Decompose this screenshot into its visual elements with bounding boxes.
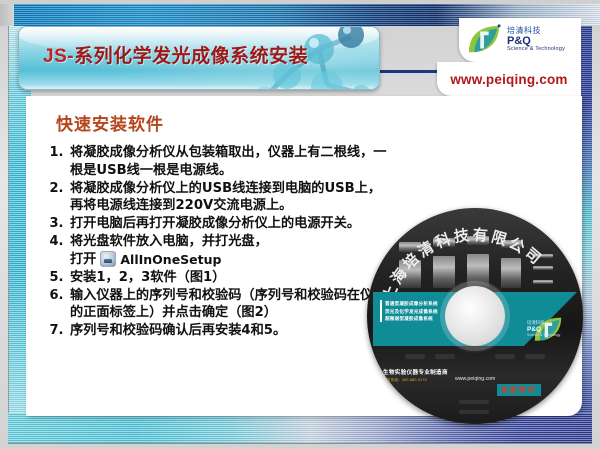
list-item: 打开电脑后再打开凝胶成像分析仪上的电源开关。 — [68, 215, 390, 233]
company-logo: 培清科技 P&Q Science & Technology — [459, 18, 581, 62]
website-url[interactable]: www.peiqing.com — [450, 72, 567, 87]
installer-icon — [100, 251, 116, 267]
leaf-icon — [465, 24, 503, 56]
cd-logo-tagline: Science & Technology — [527, 333, 579, 337]
cd-disc: 上海培清科技有限公司 普通型凝胶成像分析系统 荧光及化学发光成像系统 超微弱型凝… — [367, 208, 583, 424]
step4-setup-line: 打开 AllInOneSetup — [70, 251, 390, 269]
logo-tagline: Science & Technology — [507, 47, 565, 53]
title-main: 系列化学发光成像系统安装 — [74, 46, 308, 67]
cd-footer-hotline: 服务热线：400-880-9173 — [383, 378, 448, 383]
section-heading: 快速安装软件 — [56, 110, 164, 135]
page-title: JS-系列化学发光成像系统安装 — [43, 41, 308, 68]
software-cd-image: 上海培清科技有限公司 普通型凝胶成像分析系统 荧光及化学发光成像系统 超微弱型凝… — [367, 208, 583, 424]
list-item: 序列号和校验码确认后再安装4和5。 — [68, 322, 390, 340]
content-panel: 快速安装软件 将凝胶成像分析仪从包装箱取出，仪器上有二根线，一根是USB线一根是… — [26, 96, 582, 416]
title-prefix: JS- — [43, 46, 74, 67]
list-item: 将光盘软件放入电脑，并打光盘， 打开 AllInOneSetup — [68, 233, 390, 268]
step4-text: 将光盘软件放入电脑，并打光盘， — [70, 234, 268, 249]
list-item: 将凝胶成像分析仪上的USB线连接到电脑的USB上，再将电源线连接到220V交流电… — [68, 180, 390, 215]
cd-footer: 生物实验仪器专业制造商 服务热线：400-880-9173 — [383, 368, 448, 383]
list-item: 输入仪器上的序列号和校验码（序列号和校验码在仪器的正面标签上）并点击确定（图2） — [68, 287, 390, 322]
cd-accent-bar — [380, 300, 382, 322]
cd-badge: 系统软件 — [497, 384, 541, 396]
slide-title-plaque: JS-系列化学发光成像系统安装 — [18, 26, 380, 90]
cd-url: www.peiqing.com — [455, 376, 495, 382]
list-item: 将凝胶成像分析仪从包装箱取出，仪器上有二根线，一根是USB线一根是电源线。 — [68, 144, 390, 179]
slide-canvas: JS-系列化学发光成像系统安装 培清科技 P&Q Science & Techn… — [0, 0, 600, 449]
list-item: 安装1，2，3软件（图1） — [68, 269, 390, 287]
website-card[interactable]: www.peiqing.com — [437, 62, 581, 96]
step4-open-label: 打开 — [70, 251, 96, 269]
installation-steps-list: 将凝胶成像分析仪从包装箱取出，仪器上有二根线，一根是USB线一根是电源线。 将凝… — [42, 144, 390, 340]
logo-text-block: 培清科技 P&Q Science & Technology — [507, 27, 565, 53]
cd-center-hole — [445, 286, 505, 346]
cd-footer-main: 生物实验仪器专业制造商 — [383, 368, 448, 376]
cd-logo-text: 培清科技 P&Q Science & Technology — [527, 320, 579, 337]
setup-file-name[interactable]: AllInOneSetup — [120, 251, 221, 269]
cd-logo-abbr: P&Q — [527, 326, 579, 333]
